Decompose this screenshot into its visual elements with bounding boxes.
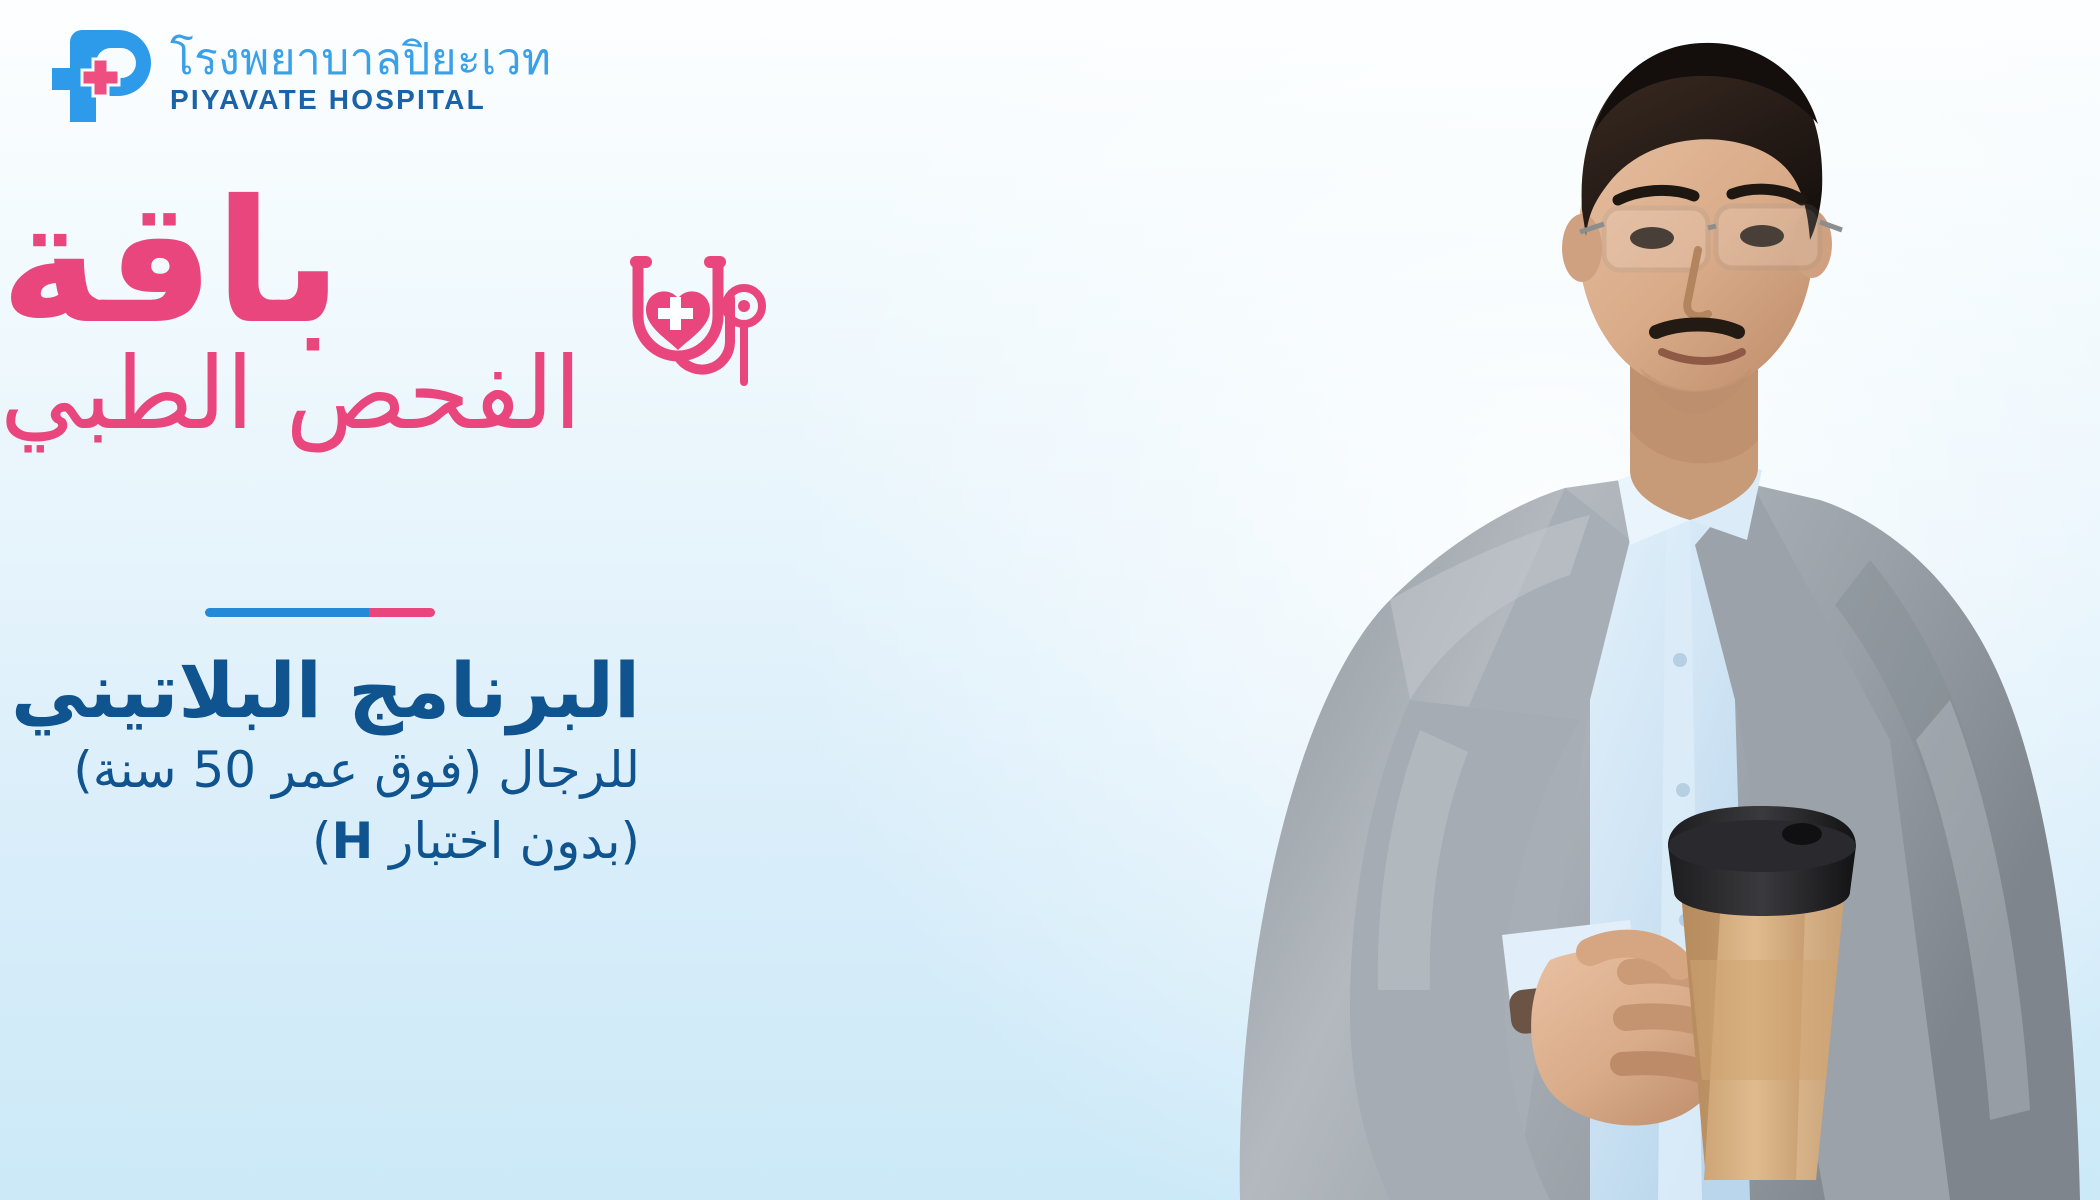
- promo-banner: โรงพยาบาลปิยะเวท PIYAVATE HOSPITAL باقة …: [0, 0, 2100, 1200]
- headline-block: باقة الفحص الطبي: [0, 180, 880, 446]
- program-title: البرنامج البلاتيني: [0, 648, 640, 733]
- program-note-highlight: H: [331, 812, 373, 870]
- stethoscope-heart-icon: [620, 242, 770, 427]
- face: [1562, 43, 1842, 414]
- logo-wordmark: โรงพยาบาลปิยะเวท PIYAVATE HOSPITAL: [170, 38, 551, 114]
- logo-thai-name: โรงพยาบาลปิยะเวท: [170, 38, 551, 82]
- subhead-block: البرنامج البلاتيني للرجال (فوق عمر 50 سن…: [0, 648, 840, 872]
- hospital-logo[interactable]: โรงพยาบาลปิยะเวท PIYAVATE HOSPITAL: [52, 26, 551, 126]
- divider-blue-segment: [205, 608, 369, 617]
- headline-words: باقة الفحص الطبي: [0, 180, 602, 446]
- piyavate-p-cross-logo-icon: [52, 26, 156, 126]
- logo-english-name: PIYAVATE HOSPITAL: [170, 86, 551, 114]
- program-note-prefix: (بدون اختبار: [373, 812, 640, 870]
- program-note: (بدون اختبار H): [0, 810, 640, 873]
- divider-pink-segment: [369, 608, 435, 617]
- program-audience: للرجال (فوق عمر 50 سنة): [0, 739, 640, 802]
- section-divider: [205, 608, 435, 617]
- headline-line-2: الفحص الطبي: [0, 341, 582, 446]
- headline-line-1: باقة: [0, 180, 342, 347]
- program-note-suffix: ): [312, 812, 332, 870]
- businessman-with-coffee-cup: [990, 0, 2100, 1200]
